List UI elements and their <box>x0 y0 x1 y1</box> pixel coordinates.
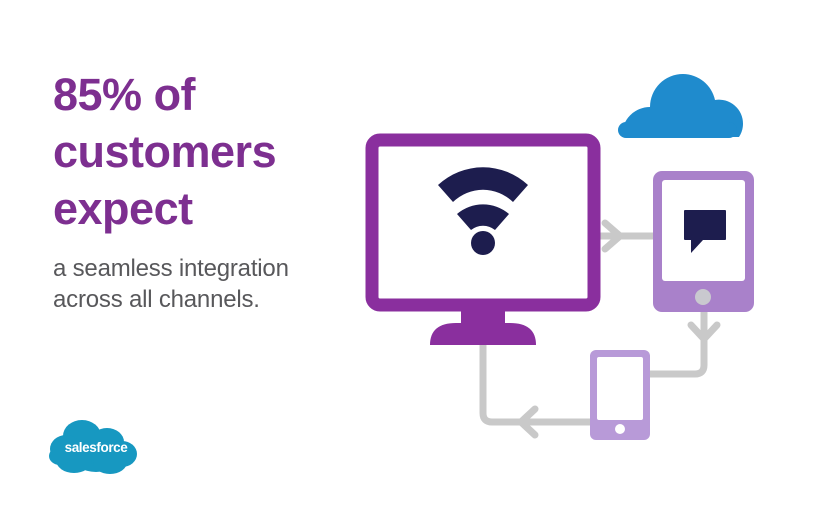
text-block: 85% of customers expect a seamless integ… <box>53 66 353 315</box>
tablet-home-button <box>695 289 711 305</box>
connector-tablet-to-phone <box>650 312 717 374</box>
phone-screen <box>597 357 643 420</box>
device-diagram <box>360 40 820 470</box>
cloud-logo-icon <box>44 412 148 482</box>
headline: 85% of customers expect <box>53 66 353 237</box>
monitor-base <box>430 323 536 345</box>
connector-phone-to-monitor <box>483 345 592 435</box>
salesforce-logo: salesforce <box>44 412 148 482</box>
phone-home-button <box>615 424 625 434</box>
infographic-canvas: 85% of customers expect a seamless integ… <box>0 0 834 514</box>
connector-monitor-to-tablet <box>592 223 655 249</box>
cloud-icon <box>618 74 743 138</box>
tablet <box>653 171 754 312</box>
smartphone <box>590 350 650 440</box>
wifi-icon <box>438 167 528 255</box>
desktop-monitor <box>372 140 594 345</box>
subheadline: a seamless integration across all channe… <box>53 253 353 315</box>
